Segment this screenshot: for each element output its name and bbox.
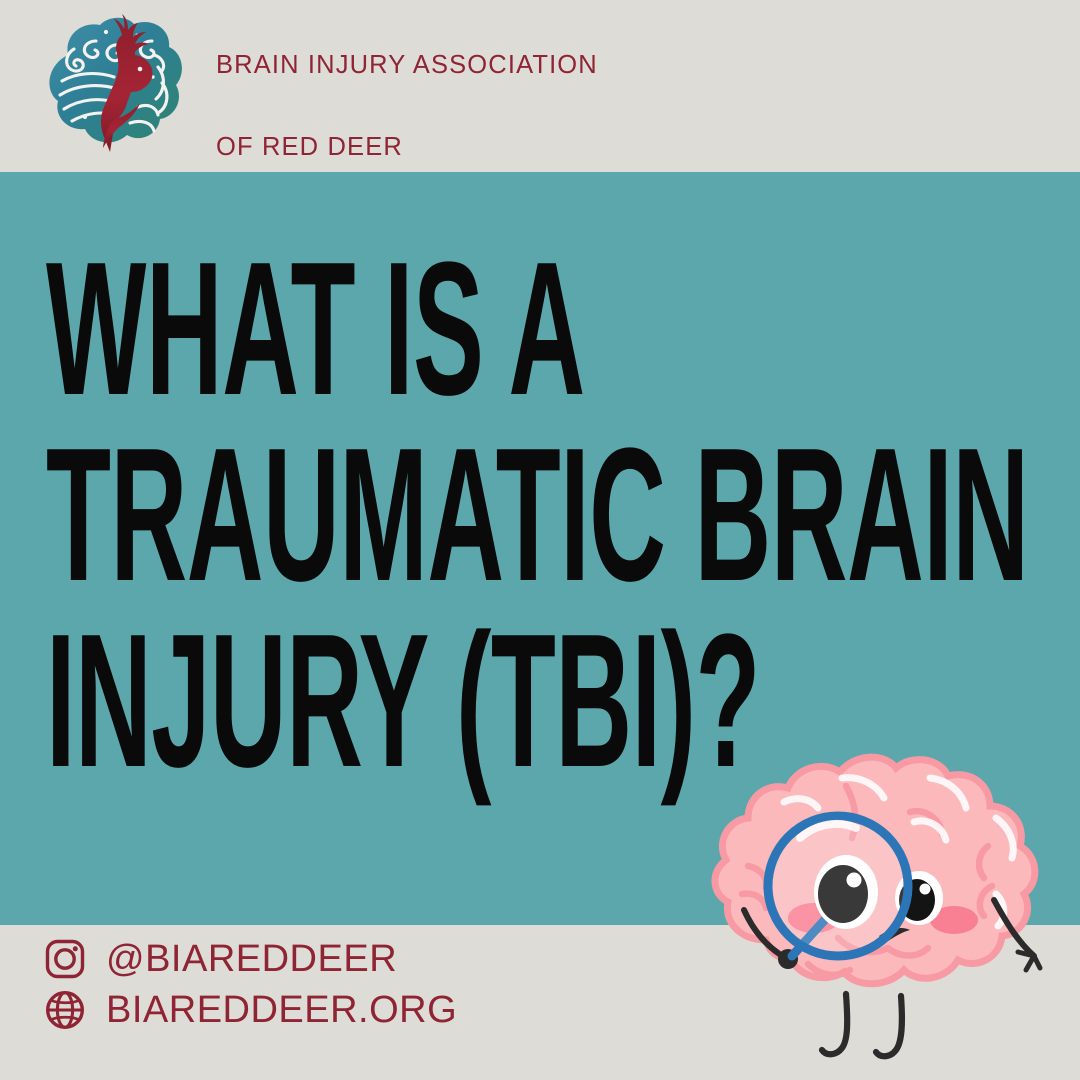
headline-line-1: WHAT IS A [46, 236, 600, 422]
website-row[interactable]: BIAREDDEER.ORG [44, 989, 457, 1031]
organization-name: BRAIN INJURY ASSOCIATION OF RED DEER [216, 3, 598, 168]
org-name-line-1: BRAIN INJURY ASSOCIATION [216, 51, 598, 79]
brain-deer-logo-icon [34, 11, 194, 161]
headline-line-2: TRAUMATIC BRAIN [46, 422, 600, 608]
website-label: BIAREDDEER.ORG [106, 991, 457, 1029]
headline-line-3: INJURY (TBI)? [46, 608, 600, 794]
footer-contact-block: @BIAREDDEER BIAREDDEER.ORG [44, 938, 457, 1031]
instagram-handle-label: @BIAREDDEER [106, 940, 397, 978]
globe-icon[interactable] [44, 989, 86, 1031]
instagram-icon[interactable] [44, 938, 86, 980]
brain-character-with-magnifying-glass [696, 726, 1080, 1080]
instagram-handle-row[interactable]: @BIAREDDEER [44, 938, 457, 980]
header: BRAIN INJURY ASSOCIATION OF RED DEER [0, 0, 1080, 172]
org-name-line-2: OF RED DEER [216, 133, 403, 161]
social-post-canvas: BRAIN INJURY ASSOCIATION OF RED DEER WHA… [0, 0, 1080, 1080]
page-title: WHAT IS A TRAUMATIC BRAIN INJURY (TBI)? [46, 236, 1036, 795]
